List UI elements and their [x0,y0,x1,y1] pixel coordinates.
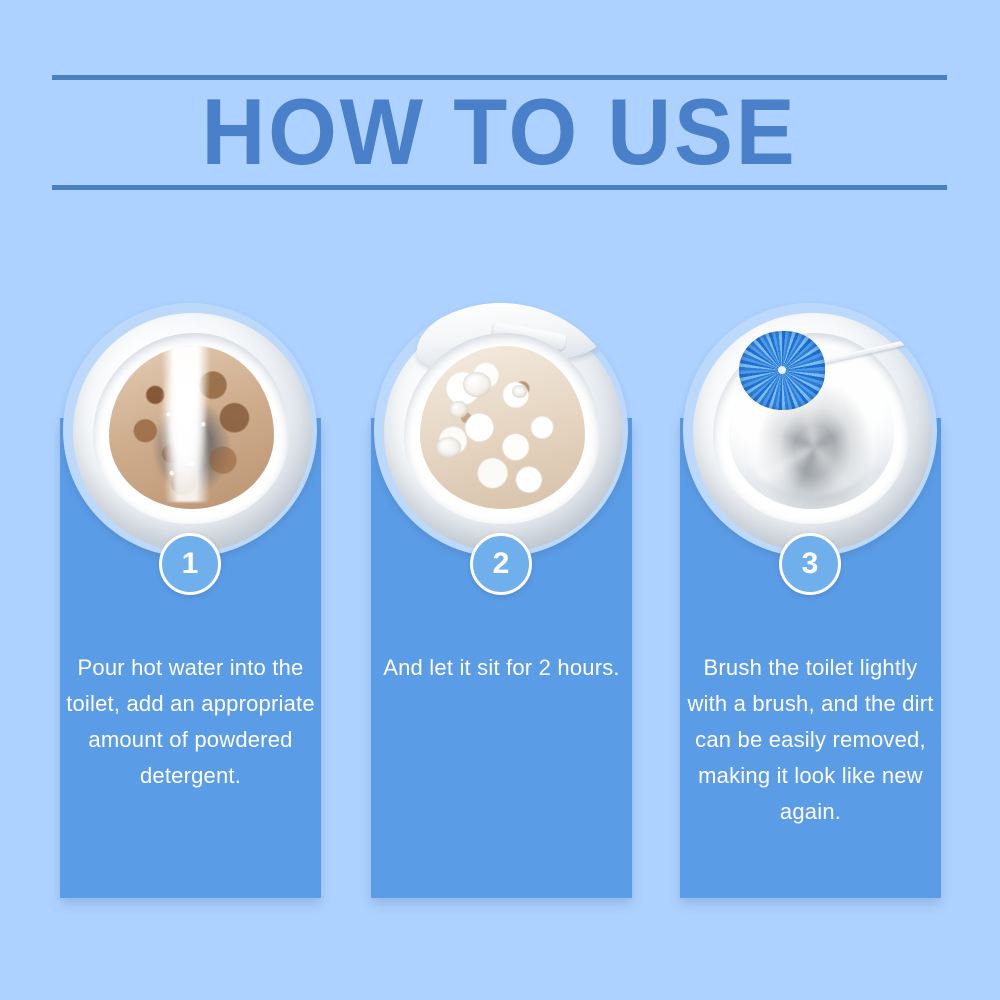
step-number-badge-3: 3 [779,533,841,595]
toilet-bowl-inner-2 [420,346,585,509]
step-caption-1: Pour hot water into the toilet, add an a… [66,650,315,794]
detergent-foam [420,346,585,509]
foam-bubble [449,401,467,417]
step-image-foaming-toilet-bowl [374,303,628,557]
toilet-bowl-illustration-1 [63,303,317,557]
toilet-bowl-illustration-2 [374,303,628,557]
step-image-clean-toilet-bowl [683,303,937,557]
steps-container: Pour hot water into the toilet, add an a… [0,0,1000,1000]
toilet-bowl-inner-1 [109,346,274,509]
toilet-brush-icon [739,331,825,410]
step-caption-2: And let it sit for 2 hours. [377,650,626,686]
step-caption-3: Brush the toilet lightly with a brush, a… [686,650,935,830]
detergent-powder-specks [109,346,274,509]
toilet-bowl-illustration-3 [683,303,937,557]
step-number-badge-1: 1 [159,533,221,595]
step-number-badge-2: 2 [470,533,532,595]
step-image-dirty-toilet-bowl [63,303,317,557]
foam-bubble [463,372,491,396]
